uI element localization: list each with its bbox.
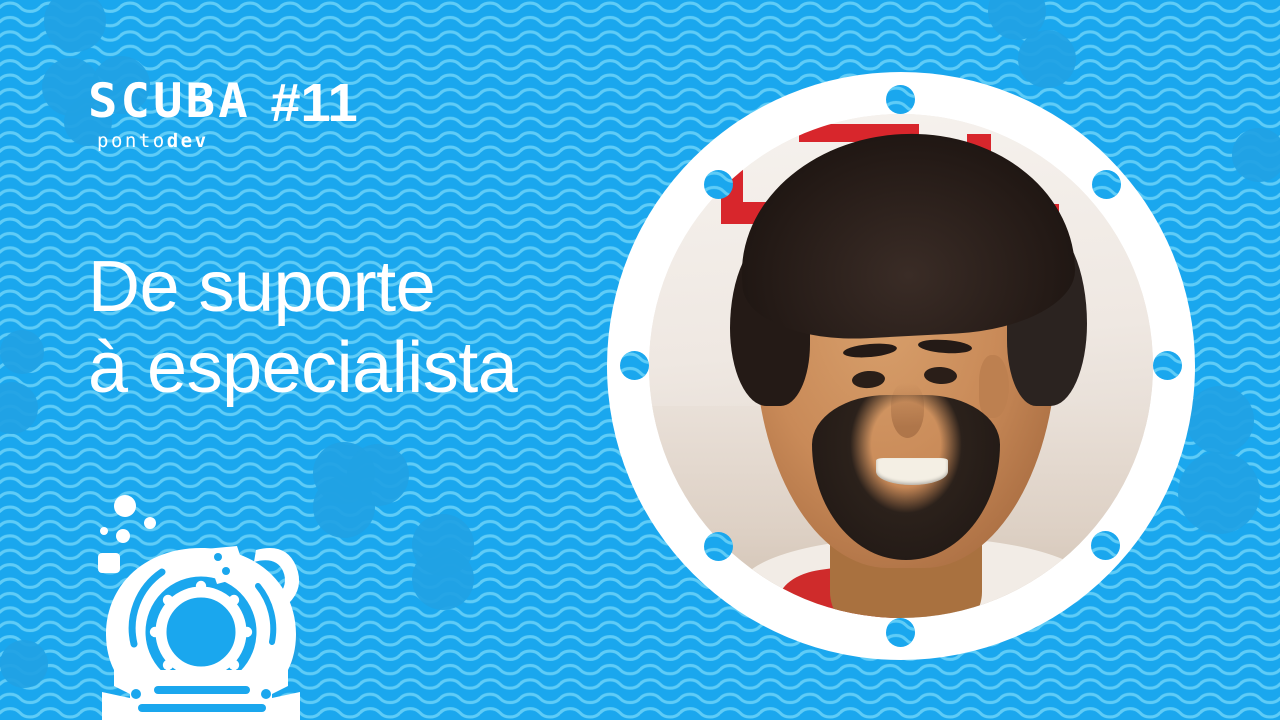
diving-helmet-icon — [76, 486, 326, 720]
porthole-bolt-north — [886, 85, 915, 114]
photo-eye-right — [924, 366, 958, 385]
portrait-porthole — [607, 72, 1195, 660]
brand-tagline: pontodev — [97, 132, 244, 151]
porthole-bolt-northeast — [1092, 170, 1121, 199]
porthole-bolt-northwest — [704, 170, 733, 199]
photo-eyebrow-left — [842, 341, 897, 359]
porthole-bolt-southwest — [704, 532, 733, 561]
photo-ear — [979, 355, 1009, 418]
brand-tagline-bold: dev — [167, 130, 209, 152]
brand-tagline-light: ponto — [97, 130, 167, 152]
brand-text-block: SCUBA pontodev — [88, 78, 244, 151]
photo-eyebrow-right — [918, 338, 973, 355]
brand-wordmark: SCUBA — [88, 78, 251, 125]
photo-eye-left — [851, 370, 885, 390]
photo-smile — [876, 458, 949, 486]
porthole-bolt-west — [620, 351, 649, 380]
porthole-bolt-south — [886, 618, 915, 647]
porthole-bolt-east — [1153, 351, 1182, 380]
brand-lockup: SCUBA pontodev #11 — [88, 78, 358, 151]
thumbnail-canvas: SCUBA pontodev #11 De suporte à especial… — [0, 0, 1280, 720]
episode-number: #11 — [270, 76, 357, 130]
title-line-2: à especialista — [88, 328, 517, 409]
title-line-1: De suporte — [88, 247, 517, 328]
porthole-bolt-southeast — [1091, 531, 1120, 560]
page-title: De suporte à especialista — [88, 247, 517, 408]
